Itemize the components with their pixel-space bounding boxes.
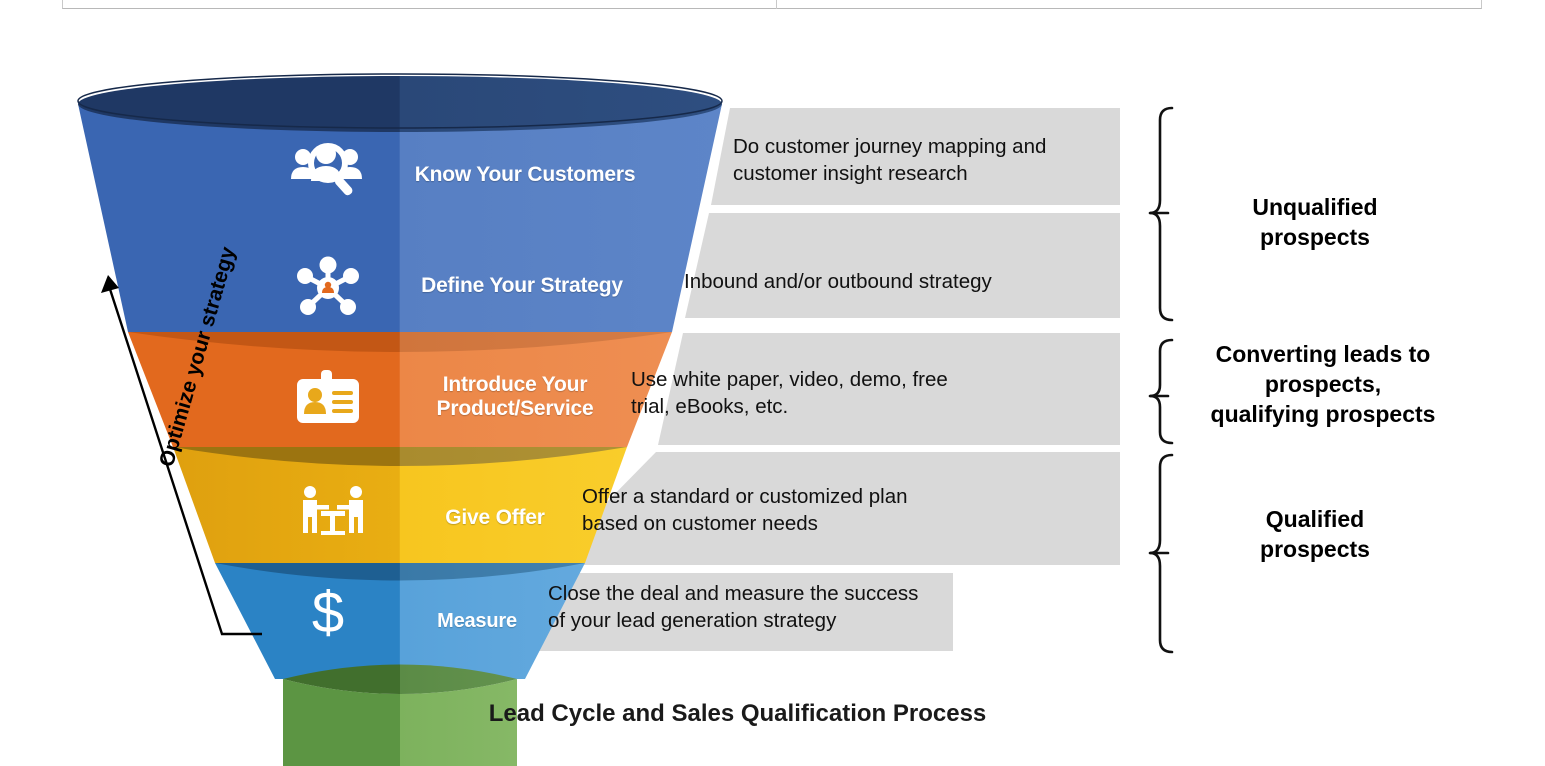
callout-text-give-offer: Offer a standard or customized plan base… bbox=[582, 483, 1002, 538]
funnel-diagram: $ Know Your Cust bbox=[0, 0, 1545, 766]
funnel-band-introduce-your-product-service bbox=[173, 447, 627, 563]
stage-label-measure: Measure bbox=[382, 610, 572, 632]
stage-label-know-your-customers: Know Your Customers bbox=[395, 163, 655, 187]
bracket-converting-leads bbox=[1150, 340, 1172, 443]
callout-text-know-your-customers: Do customer journey mapping and customer… bbox=[733, 133, 1133, 188]
callout-text-define-your-strategy: Inbound and/or outbound strategy bbox=[684, 268, 1104, 295]
svg-text:$: $ bbox=[312, 580, 344, 645]
bracket-label-unqualified-prospects: Unqualified prospects bbox=[1190, 193, 1440, 253]
stage-label-give-offer: Give Offer bbox=[385, 506, 605, 530]
stage-label-introduce-your-product-service: Introduce Your Product/Service bbox=[390, 373, 640, 420]
callout-text-measure: Close the deal and measure the success o… bbox=[548, 580, 978, 635]
diagram-caption: Lead Cycle and Sales Qualification Proce… bbox=[0, 700, 1475, 728]
funnel-top-opening bbox=[78, 76, 722, 132]
bracket-label-converting-leads: Converting leads to prospects, qualifyin… bbox=[1178, 340, 1468, 430]
bracket-label-qualified-prospects: Qualified prospects bbox=[1190, 505, 1440, 565]
dollar-sign-icon: $ bbox=[312, 580, 344, 645]
bracket-unqualified-prospects bbox=[1150, 108, 1172, 320]
stage-label-define-your-strategy: Define Your Strategy bbox=[392, 274, 652, 298]
callout-box-define-your-strategy bbox=[685, 213, 1120, 318]
group-brackets bbox=[1150, 108, 1172, 652]
bracket-qualified-prospects bbox=[1150, 455, 1172, 652]
callout-text-introduce-your-product-service: Use white paper, video, demo, free trial… bbox=[631, 366, 1051, 421]
